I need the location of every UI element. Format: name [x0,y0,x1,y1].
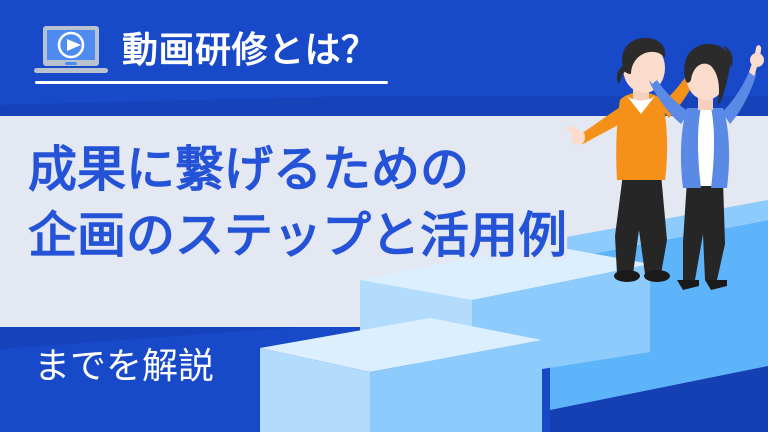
banner-canvas: 動画研修とは？ 成果に繋げるための 企画のステップと活用例 までを解説 [0,0,768,432]
headline: 成果に繋げるための 企画のステップと活用例 [28,141,728,266]
footer-text: までを解説 [34,349,214,385]
page-title: 動画研修とは？ [122,33,378,69]
headline-line-2: 企画のステップと活用例 [28,207,728,265]
laptop-play-icon [34,22,108,80]
headline-line-1: 成果に繋げるための [28,141,728,199]
header: 動画研修とは？ [34,22,378,80]
header-divider [35,81,388,84]
